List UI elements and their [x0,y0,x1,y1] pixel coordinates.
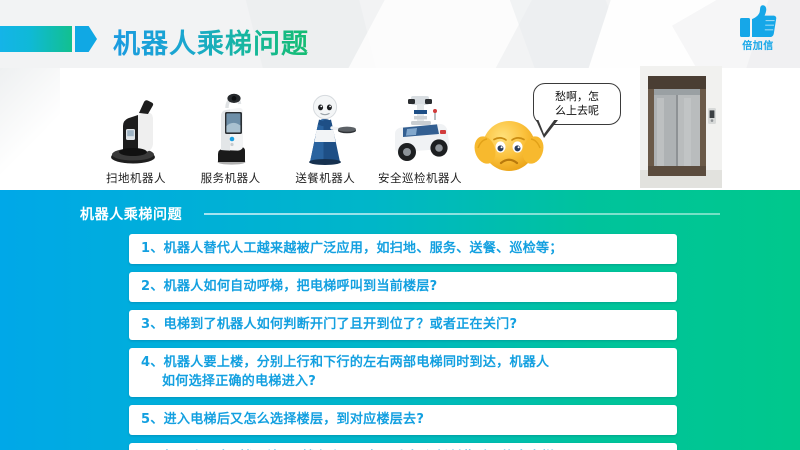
speech-bubble-line1: 愁啊，怎 [555,90,599,103]
brand-logo: 倍加信 [728,4,788,56]
robot-item: 服务机器人 [187,88,275,186]
question-list: 1、机器人替代人工越来越被广泛应用，如扫地、服务、送餐、巡检等； 2、机器人如何… [129,234,677,450]
header-arrow-icon [75,26,97,52]
list-item[interactable]: 5、进入电梯后又怎么选择楼层，到对应楼层去? [129,405,677,435]
section-header: 机器人乘梯问题 [80,204,720,224]
logo-label: 倍加信 [728,41,788,52]
robot-gallery: 扫地机器人 [92,74,464,186]
product-band: 扫地机器人 [0,68,800,190]
list-item[interactable]: 3、电梯到了机器人如何判断开门了且开到位了？或者正在关门? [129,310,677,340]
security-patrol-robot-photo [376,88,464,166]
list-item[interactable]: 6、机器人要去8楼，结果6楼有人下，机器人怎么判断此时不能出电梯? [129,443,677,450]
robot-label: 安全巡检机器人 [376,170,464,186]
list-item-line1: 3、电梯到了机器人如何判断开门了且开到位了？或者正在关门? [141,315,667,334]
floor-cleaning-robot-photo [92,88,180,166]
robot-item: 送餐机器人 [281,88,369,186]
elevator-door-photo [640,66,722,188]
slide-root: 机器人乘梯问题 倍加信 [0,0,800,450]
list-item-line1: 1、机器人替代人工越来越被广泛应用，如扫地、服务、送餐、巡检等； [141,239,667,258]
list-item[interactable]: 4、机器人要上楼，分别上行和下行的左右两部电梯同时到达，机器人 如何选择正确的电… [129,348,677,397]
band-corner-decoration [0,68,60,190]
speech-bubble-line2: 么上去呢 [555,104,599,117]
page-title: 机器人乘梯问题 [113,22,309,61]
robot-label: 扫地机器人 [92,170,180,186]
content-panel: 机器人乘梯问题 1、机器人替代人工越来越被广泛应用，如扫地、服务、送餐、巡检等；… [0,190,800,450]
section-divider [204,213,720,215]
robot-item: 安全巡检机器人 [376,88,464,186]
header-accent-bar [0,26,72,52]
section-title: 机器人乘梯问题 [80,204,182,224]
robot-item: 扫地机器人 [92,88,180,186]
list-item-line1: 2、机器人如何自动呼梯，把电梯呼叫到当前楼层? [141,277,667,296]
speech-bubble-tail-inner [538,119,555,134]
list-item[interactable]: 2、机器人如何自动呼梯，把电梯呼叫到当前楼层? [129,272,677,302]
list-item[interactable]: 1、机器人替代人工越来越被广泛应用，如扫地、服务、送餐、巡检等； [129,234,677,264]
list-item-line1: 4、机器人要上楼，分别上行和下行的左右两部电梯同时到达，机器人 [141,353,667,372]
robot-label: 服务机器人 [187,170,275,186]
thumbs-up-icon [728,4,788,40]
list-item-line2: 如何选择正确的电梯进入? [141,372,667,391]
list-item-line1: 5、进入电梯后又怎么选择楼层，到对应楼层去? [141,410,667,429]
service-robot-photo [187,88,275,166]
food-delivery-robot-photo [281,88,369,166]
slide-header: 机器人乘梯问题 倍加信 [0,0,800,68]
robot-label: 送餐机器人 [281,170,369,186]
